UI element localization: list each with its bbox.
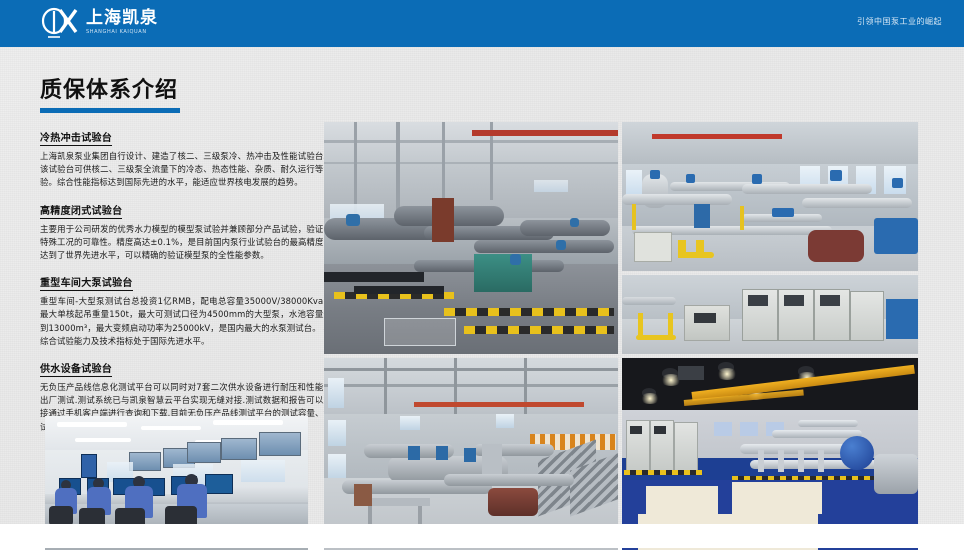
photo-electrical-switchgear-room	[622, 275, 918, 354]
section-body: 重型车间-大型泵测试台总投资1亿RMB，配电总容量35000V/38000Kva…	[40, 295, 332, 348]
text-column: 质保体系介绍 冷热冲击试验台 上海凯泉泵业集团自行设计、建造了核二、三级泵冷、热…	[40, 77, 332, 443]
section-heavy-workshop-large-pump-rig: 重型车间大泵试验台 重型车间-大型泵测试台总投资1亿RMB，配电总容量35000…	[40, 271, 332, 348]
page-header: 上海凯泉 SHANGHAI KAIQUAN 引领中国泵工业的崛起	[0, 0, 964, 47]
section-heading: 重型车间大泵试验台	[40, 274, 133, 291]
section-heading: 高精度闭式试验台	[40, 202, 122, 219]
header-tagline: 引领中国泵工业的崛起	[857, 16, 942, 27]
logo-english-name: SHANGHAI KAIQUAN	[86, 29, 158, 36]
slide-body: 质保体系介绍 冷热冲击试验台 上海凯泉泵业集团自行设计、建造了核二、三级泵冷、热…	[0, 47, 964, 548]
section-heading: 供水设备试验台	[40, 360, 112, 377]
section-body: 主要用于公司研发的优秀水力模型的模型泵试验并兼顾部分产品试验，验证其特殊工况的可…	[40, 223, 332, 263]
kaiquan-logo-icon	[40, 7, 80, 39]
photo-large-pump-test-bed	[324, 122, 618, 354]
photo-water-supply-test-lab	[622, 358, 918, 550]
section-high-precision-closed-rig: 高精度闭式试验台 主要用于公司研发的优秀水力模型的模型泵试验并兼顾部分产品试验，…	[40, 199, 332, 263]
page-title: 质保体系介绍	[40, 77, 332, 105]
company-logo[interactable]: 上海凯泉 SHANGHAI KAIQUAN	[40, 7, 158, 39]
photo-heavy-workshop-interior	[324, 358, 618, 550]
section-cold-hot-shock: 冷热冲击试验台 上海凯泉泵业集团自行设计、建造了核二、三级泵冷、热冲击及性能试验…	[40, 126, 332, 190]
logo-chinese-name: 上海凯泉	[86, 10, 158, 27]
bottom-white-margin	[0, 524, 964, 548]
photo-closed-loop-test-rig	[622, 122, 918, 271]
title-underline-rule	[40, 108, 180, 113]
section-heading: 冷热冲击试验台	[40, 129, 112, 146]
section-body: 上海凯泉泵业集团自行设计、建造了核二、三级泵冷、热冲击及性能试验台。该试验台可供…	[40, 150, 332, 190]
